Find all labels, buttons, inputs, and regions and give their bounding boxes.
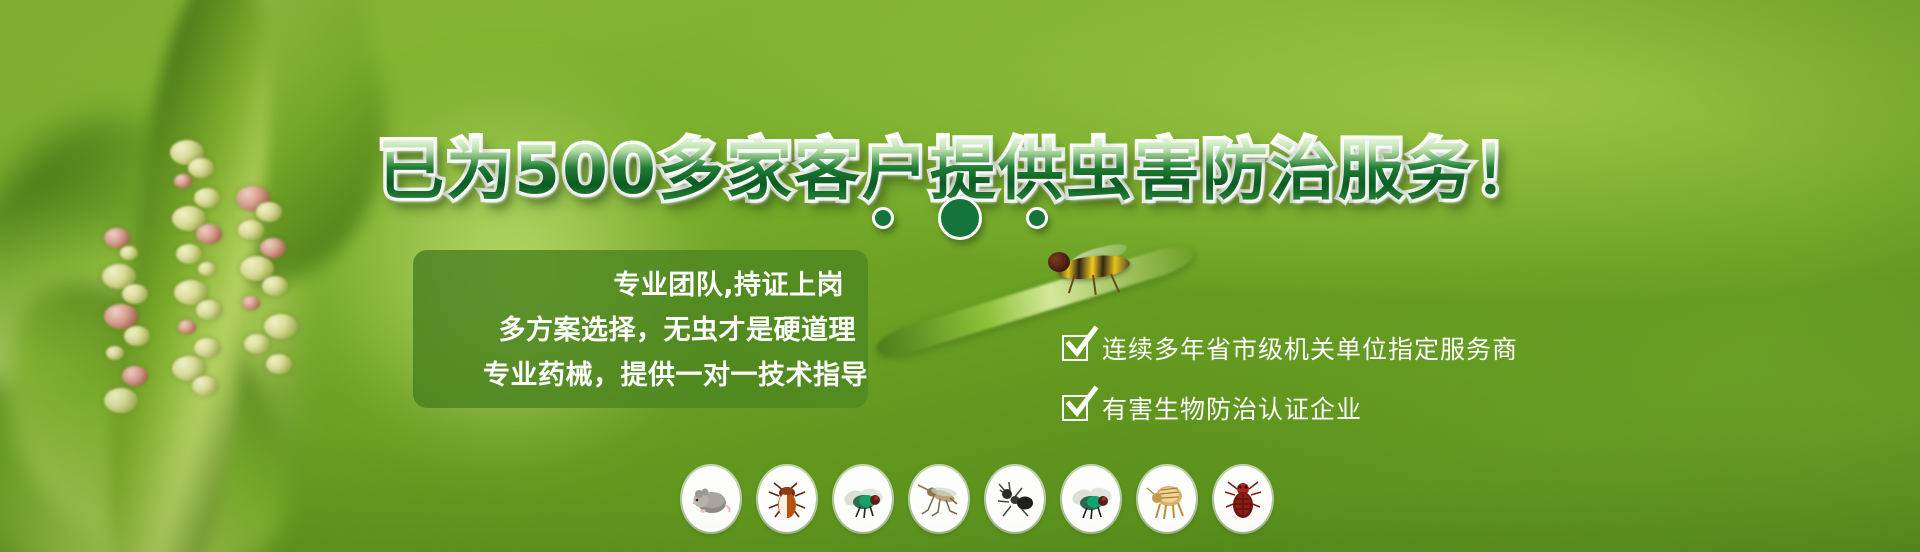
cockroach-icon <box>758 466 816 532</box>
credential-text: 连续多年省市级机关单位指定服务商 <box>1102 330 1518 366</box>
headline-text: 已为500多家客户提供虫害防治服务！ <box>0 138 1920 204</box>
selling-points-panel: 专业团队,持证上岗 多方案选择，无虫才是硬道理 专业药械，提供一对一技术指导 <box>413 250 868 408</box>
ant-icon <box>986 466 1044 532</box>
pest-icon-row <box>682 466 1272 532</box>
decorative-dots <box>0 196 1920 240</box>
rodent-icon <box>682 466 740 532</box>
selling-point-line-2: 多方案选择，无虫才是硬道理 <box>499 308 857 347</box>
list-item: 有害生物防治认证企业 <box>1062 390 1518 426</box>
pest-control-banner: 已为500多家客户提供虫害防治服务！ 已为500多家客户提供虫害防治服务！ 专业… <box>0 0 1920 552</box>
housefly-icon <box>834 466 892 532</box>
fly-head <box>1048 252 1070 272</box>
checkbox-checked-icon <box>1062 335 1088 361</box>
blowfly-icon <box>1062 466 1120 532</box>
selling-point-line-3: 专业药械，提供一对一技术指导 <box>483 353 868 392</box>
dot-small-left-icon <box>872 207 894 229</box>
dot-large-center-icon <box>938 196 982 240</box>
bedbug-icon <box>1214 466 1272 532</box>
dot-small-right-icon <box>1026 207 1048 229</box>
headline-container: 已为500多家客户提供虫害防治服务！ 已为500多家客户提供虫害防治服务！ <box>0 60 1920 170</box>
mosquito-icon <box>910 466 968 532</box>
hoverfly-on-stem-artwork <box>1040 248 1160 308</box>
selling-point-line-1: 专业团队,持证上岗 <box>613 263 844 302</box>
flea-icon <box>1138 466 1196 532</box>
credentials-list: 连续多年省市级机关单位指定服务商 有害生物防治认证企业 <box>1062 330 1518 426</box>
list-item: 连续多年省市级机关单位指定服务商 <box>1062 330 1518 366</box>
credential-text: 有害生物防治认证企业 <box>1102 390 1362 426</box>
checkbox-checked-icon <box>1062 395 1088 421</box>
